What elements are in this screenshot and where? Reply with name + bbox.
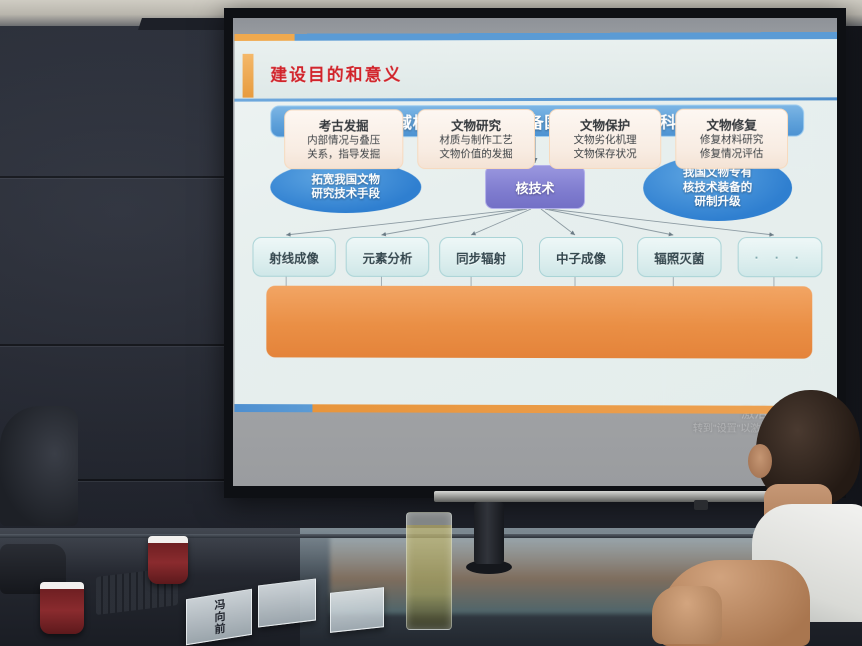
goal-left-label: 拓宽我国文物 研究技术手段 bbox=[311, 173, 380, 202]
office-chair bbox=[0, 406, 78, 526]
nameplate-3 bbox=[330, 587, 384, 633]
application-title: 文物保护 bbox=[580, 118, 630, 134]
goal-right-label: 我国文物专有 核技术装备的 研制升级 bbox=[683, 166, 752, 209]
application-title: 考古发掘 bbox=[319, 119, 369, 135]
paper-cup bbox=[148, 536, 188, 584]
glass-tea-bottle bbox=[406, 512, 452, 630]
slide-title-band: 建设目的和意义 bbox=[235, 39, 837, 99]
attendee-hand bbox=[652, 586, 722, 644]
application-card-1: 考古发掘 内部情况与叠压 关系，指导发掘 bbox=[284, 109, 403, 169]
application-sub1: 材质与制作工艺 bbox=[439, 134, 512, 148]
application-card-2: 文物研究 材质与制作工艺 文物价值的发掘 bbox=[417, 109, 535, 169]
application-sub1: 内部情况与叠压 bbox=[307, 134, 380, 148]
goal-right-line2: 核技术装备的 bbox=[683, 182, 752, 194]
tech-box-3: 同步辐射 bbox=[439, 237, 523, 277]
tech-box-5: 辐照灭菌 bbox=[637, 237, 721, 277]
core-technology-node: 核技术 bbox=[485, 165, 585, 209]
attendee-ear bbox=[748, 444, 772, 478]
application-sub2: 文物保存状况 bbox=[574, 148, 637, 162]
slide-title: 建设目的和意义 bbox=[270, 60, 402, 85]
goal-left-line1: 拓宽我国文物 bbox=[311, 174, 380, 186]
goal-right-line3: 研制升级 bbox=[694, 196, 740, 208]
presentation-slide: 建设目的和意义 bbox=[235, 32, 837, 414]
tech-box-more: · · · bbox=[738, 237, 823, 277]
goal-left-line2: 研究技术手段 bbox=[311, 188, 380, 200]
conference-microphone bbox=[474, 502, 504, 564]
title-accent-bar bbox=[243, 54, 254, 98]
slide-diagram: 文物领域核技术应用与装备国家文物局重点科研基地 拓宽我国文物 研究技术手段 核技… bbox=[235, 102, 837, 406]
application-sub1: 文物劣化机理 bbox=[574, 134, 637, 148]
application-sub2: 关系，指导发掘 bbox=[307, 148, 380, 162]
technology-row: 射线成像 元素分析 同步辐射 中子成像 辐照灭菌 · · · bbox=[243, 237, 831, 277]
tech-box-1: 射线成像 bbox=[252, 237, 335, 277]
goal-right-line1: 我国文物专有 bbox=[683, 167, 752, 179]
nameplate-1-text: 冯向前 bbox=[211, 598, 227, 637]
application-sub1: 修复材料研究 bbox=[700, 134, 763, 148]
application-sub2: 修复情况评估 bbox=[700, 148, 763, 162]
application-title: 文物研究 bbox=[451, 119, 501, 135]
title-underline bbox=[235, 97, 837, 101]
nameplate-2 bbox=[258, 578, 316, 627]
applications-band bbox=[266, 286, 812, 359]
application-title: 文物修复 bbox=[706, 118, 756, 134]
screen-hook bbox=[694, 500, 708, 510]
application-card-3: 文物保护 文物劣化机理 文物保存状况 bbox=[549, 109, 661, 169]
paper-cup bbox=[40, 582, 84, 634]
application-sub2: 文物价值的发掘 bbox=[439, 148, 512, 162]
tech-box-2: 元素分析 bbox=[346, 237, 430, 277]
tech-box-4: 中子成像 bbox=[539, 237, 623, 277]
application-card-4: 文物修复 修复材料研究 修复情况评估 bbox=[675, 108, 788, 168]
